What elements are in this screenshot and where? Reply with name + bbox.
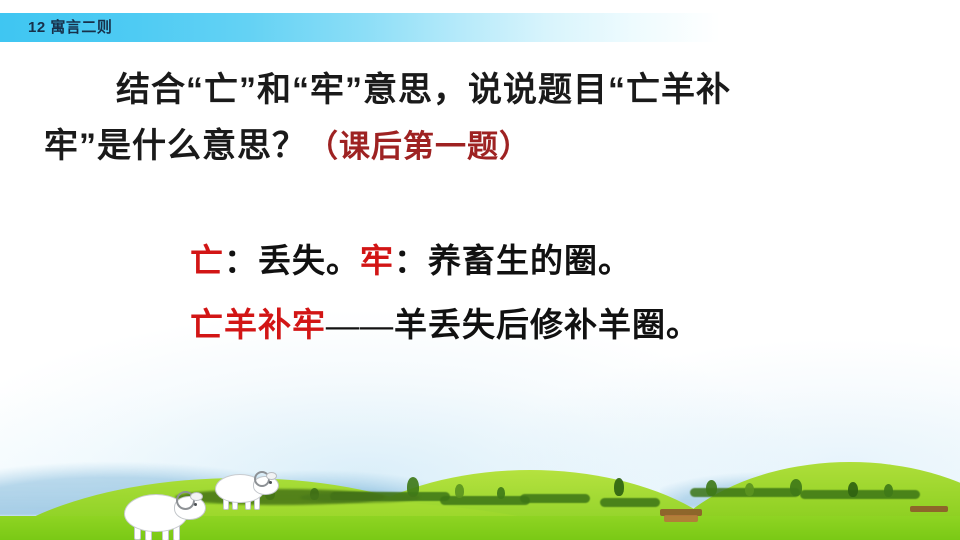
question-reference-note: （课后第一题） xyxy=(307,129,531,164)
keyword-lao: 牢 xyxy=(360,244,394,280)
idiom-explanation: ——羊丢失后修补羊圈。 xyxy=(326,308,700,344)
definition-wang: ：丢失。 xyxy=(224,244,360,280)
keyword-wang: 亡 xyxy=(190,244,224,280)
answer-line-1: 亡：丢失。牢：养畜生的圈。 xyxy=(190,230,930,294)
idiom-wangyangbulao: 亡羊补牢 xyxy=(190,308,326,344)
answer-text: 亡：丢失。牢：养畜生的圈。 亡羊补牢——羊丢失后修补羊圈。 xyxy=(190,230,930,358)
answer-line-2: 亡羊补牢——羊丢失后修补羊圈。 xyxy=(190,294,930,358)
slide-canvas: 12 寓言二则 结合“亡”和“牢”意思，说说题目“亡羊补 牢”是什么意思？（课后… xyxy=(0,0,960,540)
question-text: 结合“亡”和“牢”意思，说说题目“亡羊补 牢”是什么意思？（课后第一题） xyxy=(44,62,924,175)
question-line-2-main: 牢”是什么意思？ xyxy=(44,127,307,165)
question-line-1: 结合“亡”和“牢”意思，说说题目“亡羊补 xyxy=(116,71,731,109)
definition-lao: ：养畜生的圈。 xyxy=(394,244,632,280)
slide-content: 结合“亡”和“牢”意思，说说题目“亡羊补 牢”是什么意思？（课后第一题） 亡：丢… xyxy=(0,0,960,540)
